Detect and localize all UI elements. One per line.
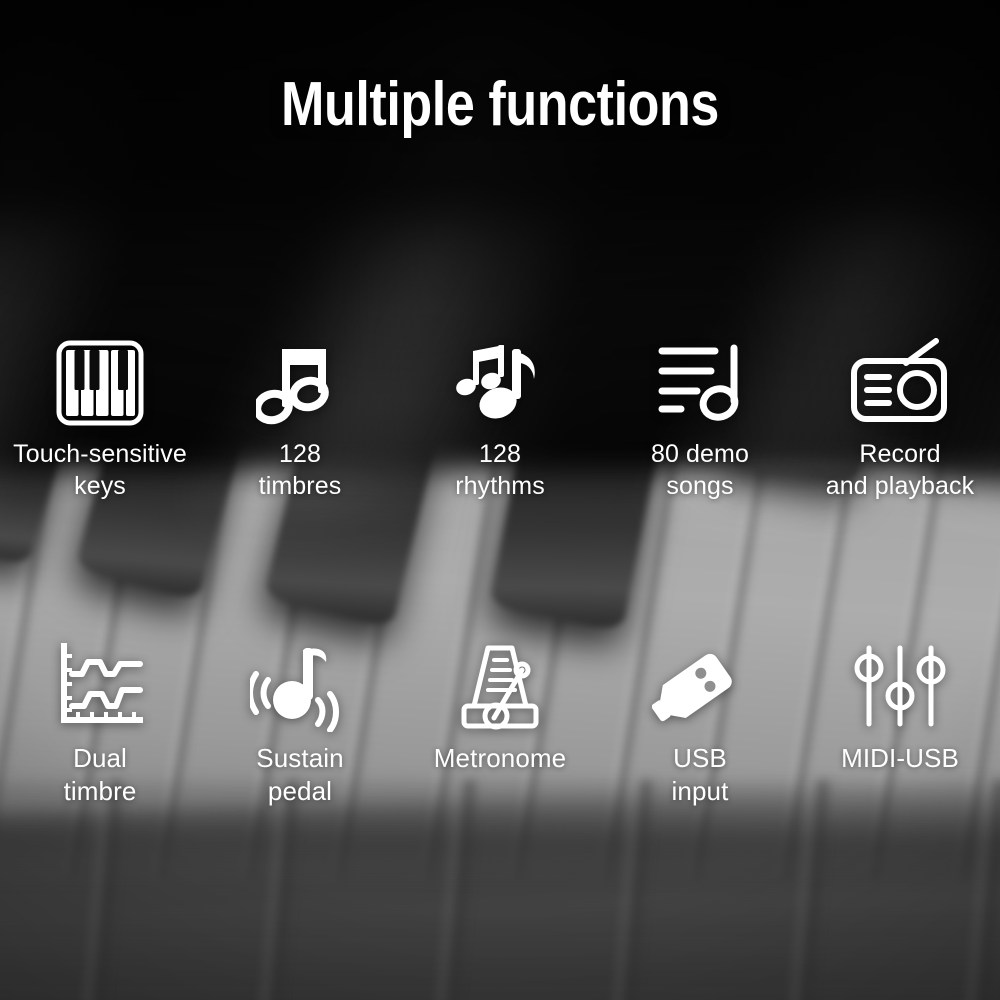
- feature-item-80-demo-songs: 80 demo songs: [600, 335, 800, 503]
- waveform-chart-icon: [52, 638, 148, 734]
- feature-row-bottom: Dual timbre: [0, 638, 1000, 808]
- radio-icon: [848, 335, 952, 431]
- feature-item-128-timbres: 128 timbres: [200, 335, 400, 503]
- feature-item-usb-input: USB input: [600, 638, 800, 808]
- feature-item-128-rhythms: 128 rhythms: [400, 335, 600, 503]
- feature-label: MIDI-USB: [841, 742, 959, 775]
- feature-label: Record and playback: [826, 439, 975, 503]
- feature-item-touch-sensitive-keys: Touch-sensitive keys: [0, 335, 200, 503]
- beamed-eighth-notes-icon: [256, 335, 344, 431]
- music-notes-icon: [454, 335, 546, 431]
- feature-label: 80 demo songs: [651, 439, 749, 503]
- feature-label: Dual timbre: [64, 742, 137, 808]
- feature-label: Metronome: [434, 742, 566, 775]
- feature-item-sustain-pedal: Sustain pedal: [200, 638, 400, 808]
- feature-label: Sustain pedal: [256, 742, 343, 808]
- feature-label: Touch-sensitive keys: [13, 439, 187, 503]
- feature-label: 128 timbres: [259, 439, 342, 503]
- song-list-note-icon: [653, 335, 747, 431]
- feature-item-dual-timbre: Dual timbre: [0, 638, 200, 808]
- feature-item-metronome: Metronome: [400, 638, 600, 808]
- promo-banner: Multiple functions: [0, 0, 1000, 1000]
- feature-label: USB input: [672, 742, 729, 808]
- feature-item-record-and-playback: Record and playback: [800, 335, 1000, 503]
- vibrating-note-icon: [250, 638, 350, 734]
- usb-connector-icon: [652, 638, 748, 734]
- sliders-icon: [853, 638, 947, 734]
- page-title: Multiple functions: [80, 72, 920, 137]
- feature-row-top: Touch-sensitive keys 128 timbres: [0, 335, 1000, 503]
- piano-keyboard-icon: [52, 335, 148, 431]
- feature-item-midi-usb: MIDI-USB: [800, 638, 1000, 808]
- metronome-icon: [452, 638, 548, 734]
- feature-label: 128 rhythms: [455, 439, 545, 503]
